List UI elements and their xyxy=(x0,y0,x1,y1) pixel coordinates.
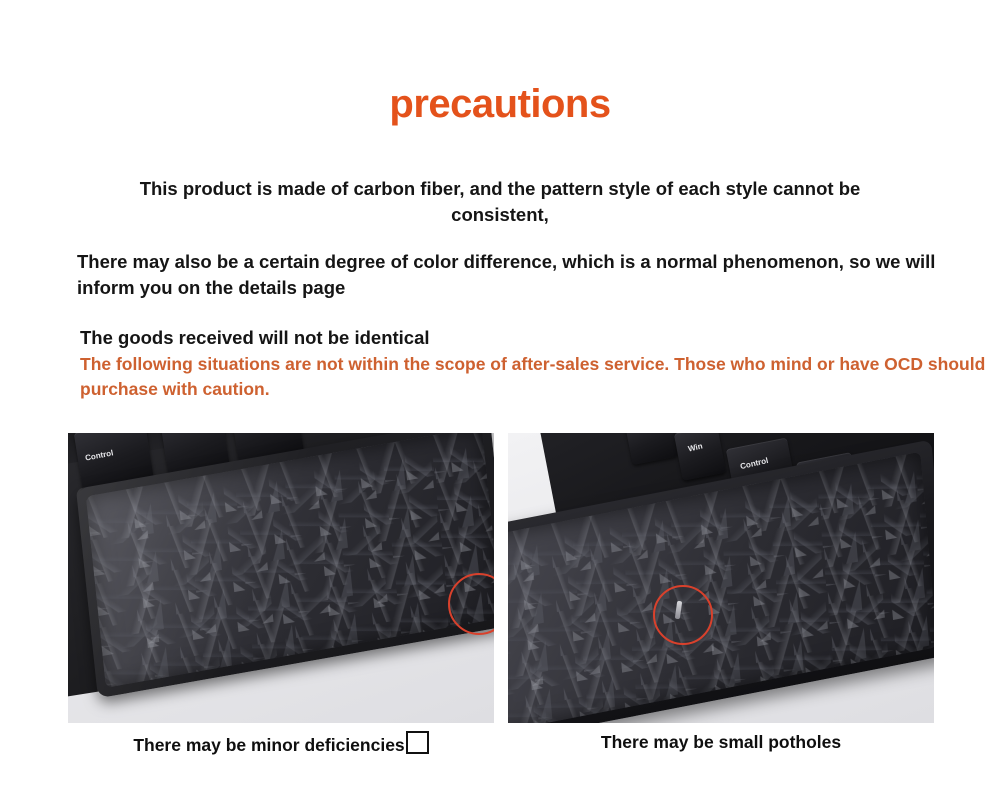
caption-small-potholes: There may be small potholes xyxy=(508,731,934,758)
body-copy: This product is made of carbon fiber, an… xyxy=(0,176,1000,351)
caption-minor-deficiencies: There may be minor deficiencies xyxy=(68,731,494,758)
page-title: precautions xyxy=(0,82,1000,126)
paragraph-carbon-fiber-pattern: This product is made of carbon fiber, an… xyxy=(0,176,1000,229)
photo-small-pothole: Win Control ← ↑ ↓ → xyxy=(508,433,934,723)
red-circle-annotation-icon xyxy=(653,585,713,645)
paragraph-color-difference: There may also be a certain degree of co… xyxy=(0,249,1000,302)
caption-text: There may be small potholes xyxy=(601,732,841,752)
keyboard-key-win xyxy=(674,433,726,481)
after-sales-warning-text: The following situations are not within … xyxy=(0,352,1000,403)
photo-row: Control Win Control ← ↑ ↓ → xyxy=(68,433,934,723)
missing-glyph-box-icon xyxy=(406,731,429,754)
caption-text: There may be minor deficiencies xyxy=(133,735,404,755)
caption-row: There may be minor deficiencies There ma… xyxy=(68,731,934,758)
photo-minor-deficiency: Control xyxy=(68,433,494,723)
paragraph-goods-not-identical: The goods received will not be identical xyxy=(0,325,1000,351)
